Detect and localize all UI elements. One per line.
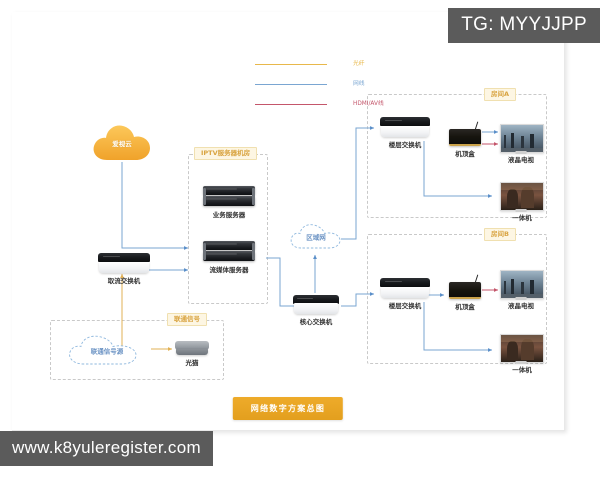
diagram-title-banner: 网络数字方案总图 (233, 397, 343, 420)
tv-icon (500, 270, 544, 299)
node-label-biz-server: 业务服务器 (199, 212, 259, 220)
node-media-cloud: 爱视云 (90, 120, 154, 164)
group-tag-room-a: 房间A (484, 88, 516, 101)
rack-server-icon (203, 186, 255, 195)
switch-icon (380, 117, 430, 126)
legend-swatch-fiber (255, 64, 327, 65)
node-label-lcd-tv-b: 液晶电视 (497, 303, 545, 311)
node-lcd-tv-b (500, 270, 542, 297)
switch-icon (380, 278, 430, 287)
switch-icon (98, 253, 150, 262)
node-label-media-cloud: 爱视云 (90, 138, 154, 148)
node-unicom-source: 联通信号源 (64, 333, 150, 367)
group-tag-room-b: 房间B (484, 228, 516, 241)
node-label-floor-switch-a: 楼层交换机 (375, 142, 435, 150)
node-regional-network: 区域网 (288, 221, 344, 251)
tv-icon (500, 182, 544, 211)
node-optical-modem (175, 341, 209, 355)
set-top-box-icon (449, 282, 481, 299)
legend-item-network-cable: 网线 (255, 78, 382, 91)
watermark-top-right: TG: MYYJJPP (448, 8, 600, 43)
diagram-canvas: 光纤 网线 HDMI/AV线 IPTV服务器机房 联通信号 房间A 房间B (12, 12, 565, 431)
node-label-unicom-source: 联通信号源 (64, 346, 150, 356)
node-set-top-box-b (449, 275, 481, 299)
legend-swatch-network-cable (255, 84, 327, 85)
group-tag-iptv-server-room: IPTV服务器机房 (194, 147, 257, 160)
node-label-aio-a: 一体机 (500, 215, 544, 223)
node-floor-switch-a (380, 117, 430, 137)
node-biz-server (203, 186, 255, 207)
node-aio-a (500, 182, 542, 209)
node-core-switch (293, 295, 339, 314)
node-label-aio-b: 一体机 (500, 367, 544, 375)
legend: 光纤 网线 HDMI/AV线 (255, 58, 382, 111)
tv-icon (500, 124, 544, 153)
legend-label-network-cable: 网线 (353, 82, 365, 88)
legend-label-fiber: 光纤 (353, 62, 365, 68)
node-label-floor-switch-b: 楼层交换机 (375, 303, 435, 311)
legend-item-hdmi-av: HDMI/AV线 (255, 98, 382, 111)
node-label-core-switch: 核心交换机 (286, 319, 346, 327)
node-label-stream-server: 流媒体服务器 (192, 267, 266, 275)
tv-icon (500, 334, 544, 363)
node-floor-switch-b (380, 278, 430, 298)
rack-server-icon (203, 241, 255, 250)
node-label-set-top-box-b: 机顶盒 (441, 304, 489, 312)
group-tag-unicom-signal: 联通信号 (167, 313, 207, 326)
node-label-lcd-tv-a: 液晶电视 (497, 157, 545, 165)
node-label-stream-switch: 取流交换机 (94, 278, 154, 286)
legend-swatch-hdmi-av (255, 104, 327, 105)
node-label-regional-network: 区域网 (288, 232, 344, 242)
legend-label-hdmi-av: HDMI/AV线 (353, 102, 384, 108)
node-lcd-tv-a (500, 124, 542, 151)
node-label-set-top-box-a: 机顶盒 (441, 151, 489, 159)
set-top-box-icon (449, 129, 481, 146)
node-stream-switch (98, 253, 150, 273)
node-label-optical-modem: 光猫 (168, 360, 216, 368)
node-aio-b (500, 334, 542, 361)
node-stream-server (203, 241, 255, 262)
node-set-top-box-a (449, 122, 481, 146)
legend-item-fiber: 光纤 (255, 58, 382, 71)
watermark-bottom-left: www.k8yuleregister.com (0, 431, 213, 466)
